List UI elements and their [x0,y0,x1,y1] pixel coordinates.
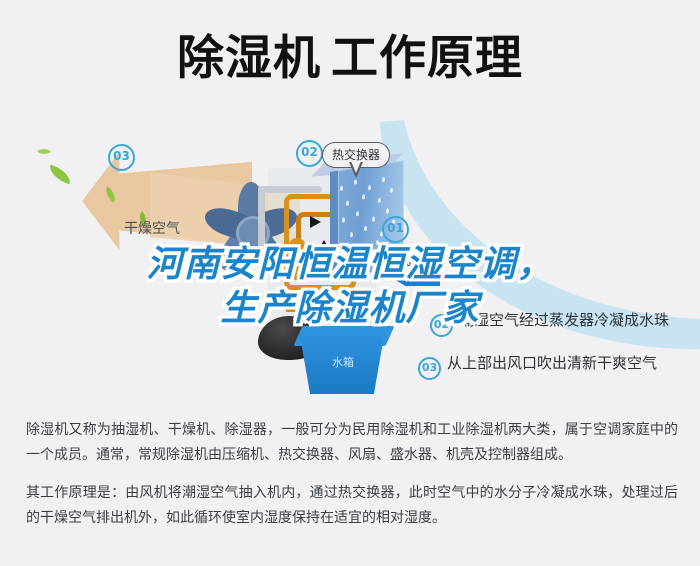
water-droplet-icon [346,201,349,206]
water-droplet-icon [344,247,347,252]
water-tank-label: 水箱 [318,354,368,370]
water-droplet-icon [368,185,371,190]
water-droplet-icon [352,262,355,267]
air-inlet-arrow-icon [392,270,440,286]
step-text-02: 潮湿空气经过蒸发器冷凝成水珠 [459,311,669,329]
leaf-icon [47,165,74,185]
water-droplet-icon [376,240,379,245]
badge-01: 01 [382,216,409,243]
leaf-icon [37,146,51,157]
water-droplet-icon [362,194,365,199]
dry-air-label: 干燥空气 [124,218,180,238]
water-droplet-icon [340,185,343,190]
step-badge-03: 03 [418,357,441,380]
water-droplet-icon [360,248,363,253]
refrigerant-pipe [258,186,322,193]
dehumidifier-diagram: 水箱 03 02 01 热交换器 干燥空气 潮湿空气 02潮湿空气经过蒸发器冷凝… [0,120,700,395]
flow-arrow-icon [310,216,321,228]
water-droplet-icon [378,197,381,202]
paragraph-2: 其工作原理是：由风机将潮湿空气抽入机内，通过热交换器，此时空气中的水分子冷凝成水… [26,481,678,531]
step-line-02: 02潮湿空气经过蒸发器冷凝成水珠 [430,309,669,337]
refrigerant-pipe [258,186,265,270]
step-badge-02: 02 [430,314,453,337]
water-droplet-icon [354,179,357,184]
article-body: 除湿机又称为抽湿机、干燥机、除湿器，一般可分为民用除湿机和工业除湿机两大类，属于… [26,418,678,531]
water-droplet-icon [350,232,353,237]
water-droplet-icon [390,188,393,193]
poster-page: 除湿机工作原理 [0,0,700,566]
accumulator-icon [288,238,306,280]
badge-02: 02 [296,140,323,167]
water-droplet-icon [370,261,373,266]
step-line-03: 03从上部出风口吹出清新干爽空气 [418,352,657,380]
water-droplet-icon [356,211,359,216]
flow-arrow-icon [318,240,330,251]
step-text-03: 从上部出风口吹出清新干爽空气 [447,354,657,372]
paragraph-1: 除湿机又称为抽湿机、干燥机、除湿器，一般可分为民用除湿机和工业除湿机两大类，属于… [26,418,678,468]
water-droplet-icon [372,216,375,221]
page-title-part-b: 工作原理 [331,31,523,86]
callout-tail-inner-icon [351,161,361,173]
water-droplet-icon [364,226,367,231]
water-droplet-icon [382,177,385,182]
water-droplet-icon [386,208,389,213]
page-title-part-a: 除湿机 [177,31,321,86]
water-droplet-icon [342,217,345,222]
humid-air-label: 潮湿空气 [386,250,442,270]
badge-03: 03 [108,144,135,171]
page-title: 除湿机工作原理 [0,30,700,88]
